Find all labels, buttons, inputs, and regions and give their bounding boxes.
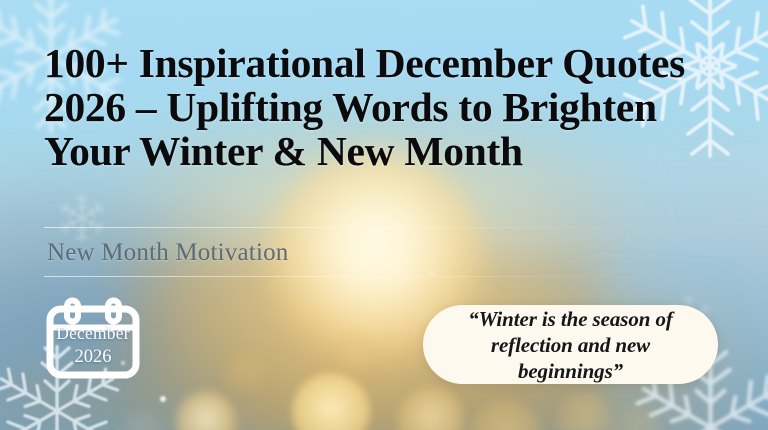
divider-bottom	[44, 276, 644, 277]
quote-badge: “Winter is the season of reflection and …	[423, 305, 718, 384]
page-title: 100+ Inspirational December Quotes 2026 …	[44, 41, 734, 173]
quote-text: “Winter is the season of reflection and …	[423, 306, 718, 384]
divider-top	[44, 227, 644, 228]
hero-content: 100+ Inspirational December Quotes 2026 …	[0, 0, 768, 430]
calendar-badge-text: December 2026	[46, 325, 140, 366]
page-subtitle: New Month Motivation	[47, 238, 289, 268]
calendar-badge: December 2026	[46, 297, 140, 379]
calendar-year: 2026	[46, 348, 140, 367]
featured-image-card: 100+ Inspirational December Quotes 2026 …	[0, 0, 768, 430]
calendar-month: December	[46, 325, 140, 343]
